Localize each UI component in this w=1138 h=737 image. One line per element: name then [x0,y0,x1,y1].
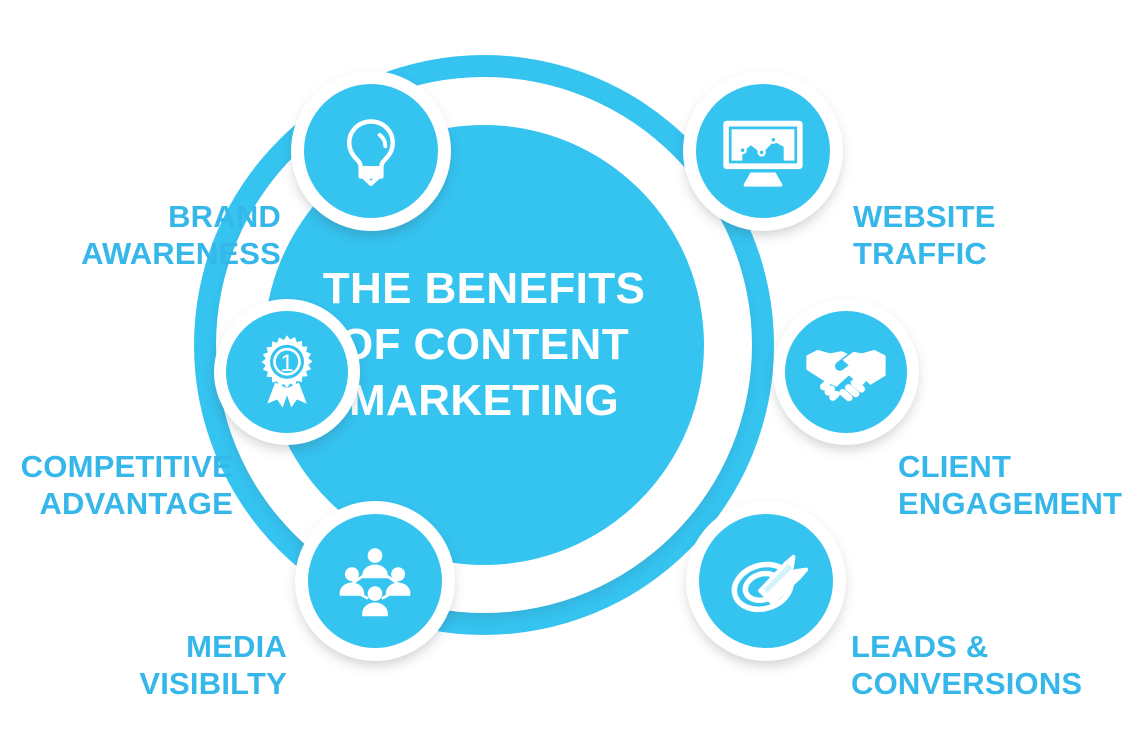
label-line-1: LEADS & [851,628,1082,665]
label-leads-conversions: LEADS & CONVERSIONS [851,628,1082,702]
node-brand-awareness[interactable] [291,71,451,231]
svg-text:1: 1 [280,350,293,377]
node-leads-conversions[interactable] [686,501,846,661]
label-brand-awareness: BRAND AWARENESS [81,198,281,272]
label-line-1: CLIENT [898,448,1122,485]
page-title-line-1: THE BENEFITS [323,261,646,317]
node-disc [696,84,830,218]
label-line-2: CONVERSIONS [851,665,1082,702]
label-line-2: TRAFFIC [853,235,996,272]
label-line-1: WEBSITE [853,198,996,235]
node-website-traffic[interactable] [683,71,843,231]
label-line-2: ENGAGEMENT [898,485,1122,522]
page-title-line-2: OF CONTENT [339,317,629,373]
node-competitive-advantage[interactable]: 1 [214,299,360,445]
monitor-analytics-icon [720,108,806,194]
target-dart-icon [724,539,808,623]
node-media-visibility[interactable] [295,501,455,661]
page-title-line-3: MARKETING [349,373,619,429]
node-disc [699,514,833,648]
label-line-2: ADVANTAGE [21,485,233,522]
node-disc: 1 [226,311,348,433]
label-media-visibility: MEDIA VISIBILTY [139,628,287,702]
lightbulb-icon [329,109,413,193]
handshake-icon [803,329,889,415]
label-line-2: VISIBILTY [139,665,287,702]
label-website-traffic: WEBSITE TRAFFIC [853,198,996,272]
label-client-engagement: CLIENT ENGAGEMENT [898,448,1122,522]
award-ribbon-icon: 1 [247,332,327,412]
node-disc [308,514,442,648]
infographic-canvas: THE BENEFITS OF CONTENT MARKETING [0,0,1138,737]
node-client-engagement[interactable] [773,299,919,445]
label-line-1: COMPETITIVE [21,448,233,485]
people-group-icon [333,539,417,623]
label-line-1: BRAND [81,198,281,235]
label-line-2: AWARENESS [81,235,281,272]
node-disc [304,84,438,218]
label-line-1: MEDIA [139,628,287,665]
node-disc [785,311,907,433]
label-competitive-advantage: COMPETITIVE ADVANTAGE [21,448,233,522]
